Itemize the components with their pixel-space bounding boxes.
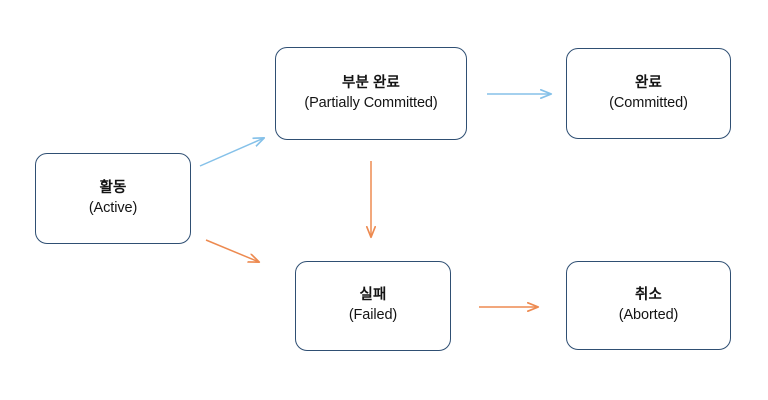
- state-label-ko-committed: 완료: [635, 74, 662, 94]
- state-node-active[interactable]: 활동 (Active): [35, 153, 191, 244]
- state-label-ko-failed: 실패: [360, 286, 387, 306]
- state-label-ko-aborted: 취소: [635, 286, 662, 306]
- state-node-failed[interactable]: 실패 (Failed): [295, 261, 451, 351]
- state-label-en-aborted: (Aborted): [619, 306, 679, 326]
- state-label-en-failed: (Failed): [349, 306, 397, 326]
- edge-active-to-failed: [206, 240, 259, 262]
- state-label-ko-partially-committed: 부분 완료: [342, 74, 400, 94]
- state-label-en-committed: (Committed): [609, 94, 688, 114]
- edge-active-to-partially-committed: [200, 138, 264, 166]
- transaction-state-diagram: 활동 (Active) 부분 완료 (Partially Committed) …: [0, 0, 768, 400]
- state-label-en-active: (Active): [89, 199, 137, 219]
- state-label-en-partially-committed: (Partially Committed): [304, 94, 437, 114]
- state-label-ko-active: 활동: [100, 179, 127, 199]
- state-node-committed[interactable]: 완료 (Committed): [566, 48, 731, 139]
- state-node-partially-committed[interactable]: 부분 완료 (Partially Committed): [275, 47, 467, 140]
- state-node-aborted[interactable]: 취소 (Aborted): [566, 261, 731, 350]
